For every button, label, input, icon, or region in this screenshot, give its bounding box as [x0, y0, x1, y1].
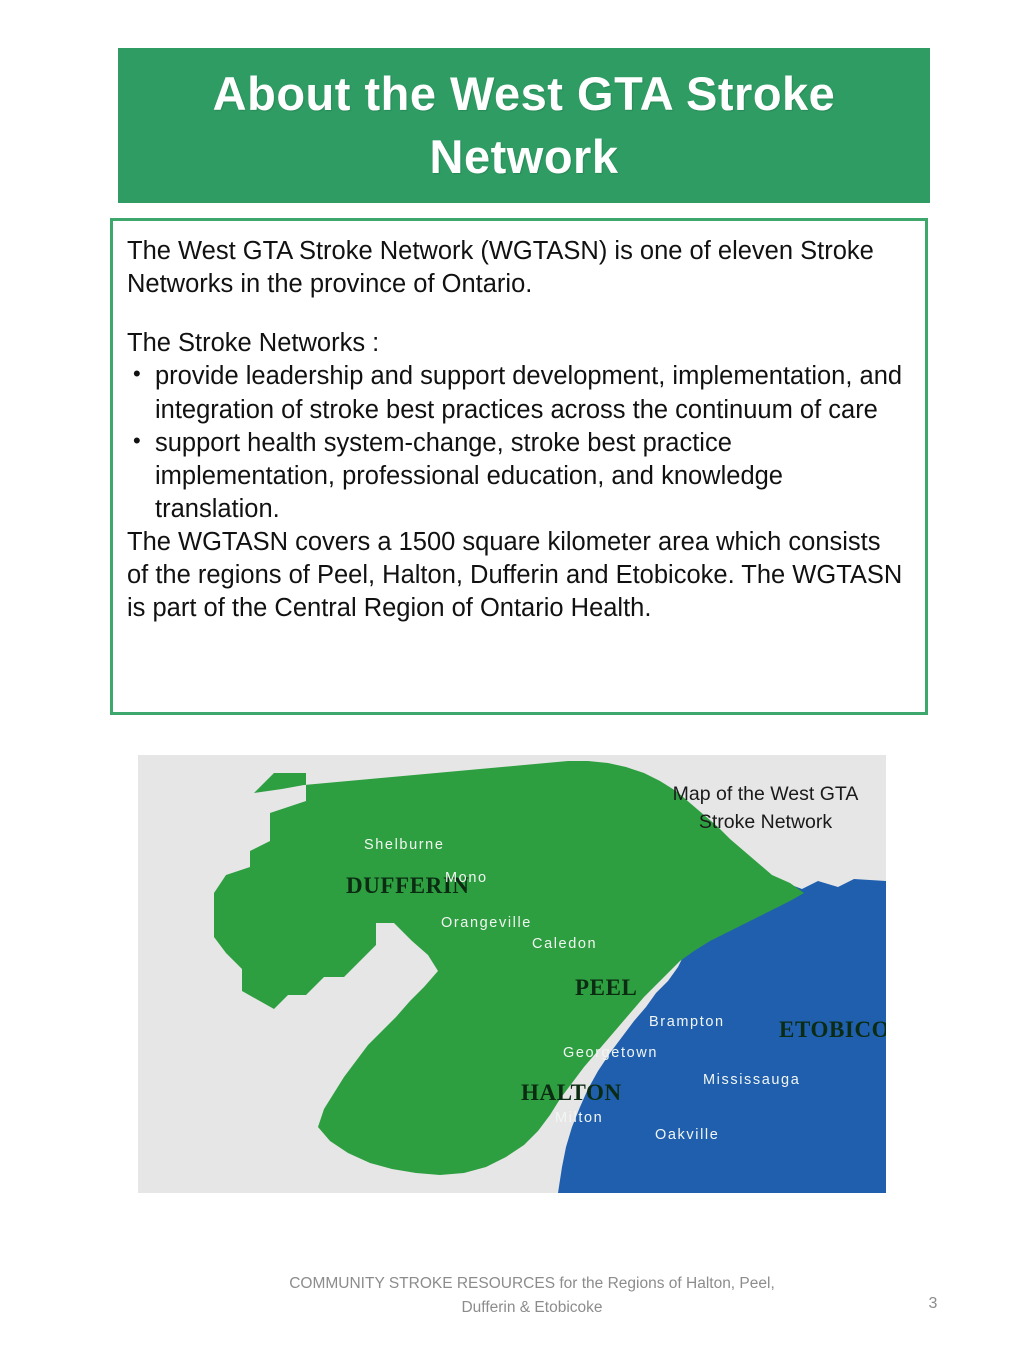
map-city-label: Mississauga [703, 1072, 800, 1088]
map-city-label: Oakville [655, 1127, 719, 1143]
map-city-label: Shelburne [364, 837, 445, 853]
map-region-label: ETOBICOKE [779, 1017, 886, 1042]
page-footer: COMMUNITY STROKE RESOURCES for the Regio… [0, 1272, 1024, 1342]
map-figure: DUFFERIN PEEL HALTON ETOBICOKE Shelburne… [138, 755, 886, 1193]
footer-text: COMMUNITY STROKE RESOURCES for the Regio… [262, 1272, 802, 1320]
list-intro-label: The Stroke Networks : [127, 327, 907, 360]
coverage-paragraph: The WGTASN covers a 1500 square kilomete… [127, 526, 907, 625]
map-region-label: PEEL [575, 975, 637, 1000]
map-city-label: Caledon [532, 936, 597, 952]
stroke-networks-list: provide leadership and support developme… [127, 360, 907, 526]
content-box: The West GTA Stroke Network (WGTASN) is … [110, 218, 928, 715]
map-caption: Map of the West GTA Stroke Network [658, 780, 873, 837]
list-item: provide leadership and support developme… [127, 360, 907, 426]
page-title-banner: About the West GTA Stroke Network [118, 48, 930, 203]
map-city-label: Milton [555, 1110, 603, 1126]
map-city-label: Mono [445, 870, 488, 886]
map-city-label: Brampton [649, 1014, 725, 1030]
list-item: support health system-change, stroke bes… [127, 427, 907, 526]
map-city-label: Orangeville [441, 915, 532, 931]
page-number: 3 [918, 1295, 948, 1313]
map-city-label: Georgetown [563, 1045, 658, 1061]
intro-paragraph: The West GTA Stroke Network (WGTASN) is … [127, 235, 907, 301]
page-title: About the West GTA Stroke Network [148, 63, 900, 187]
map-region-label: HALTON [521, 1080, 622, 1105]
